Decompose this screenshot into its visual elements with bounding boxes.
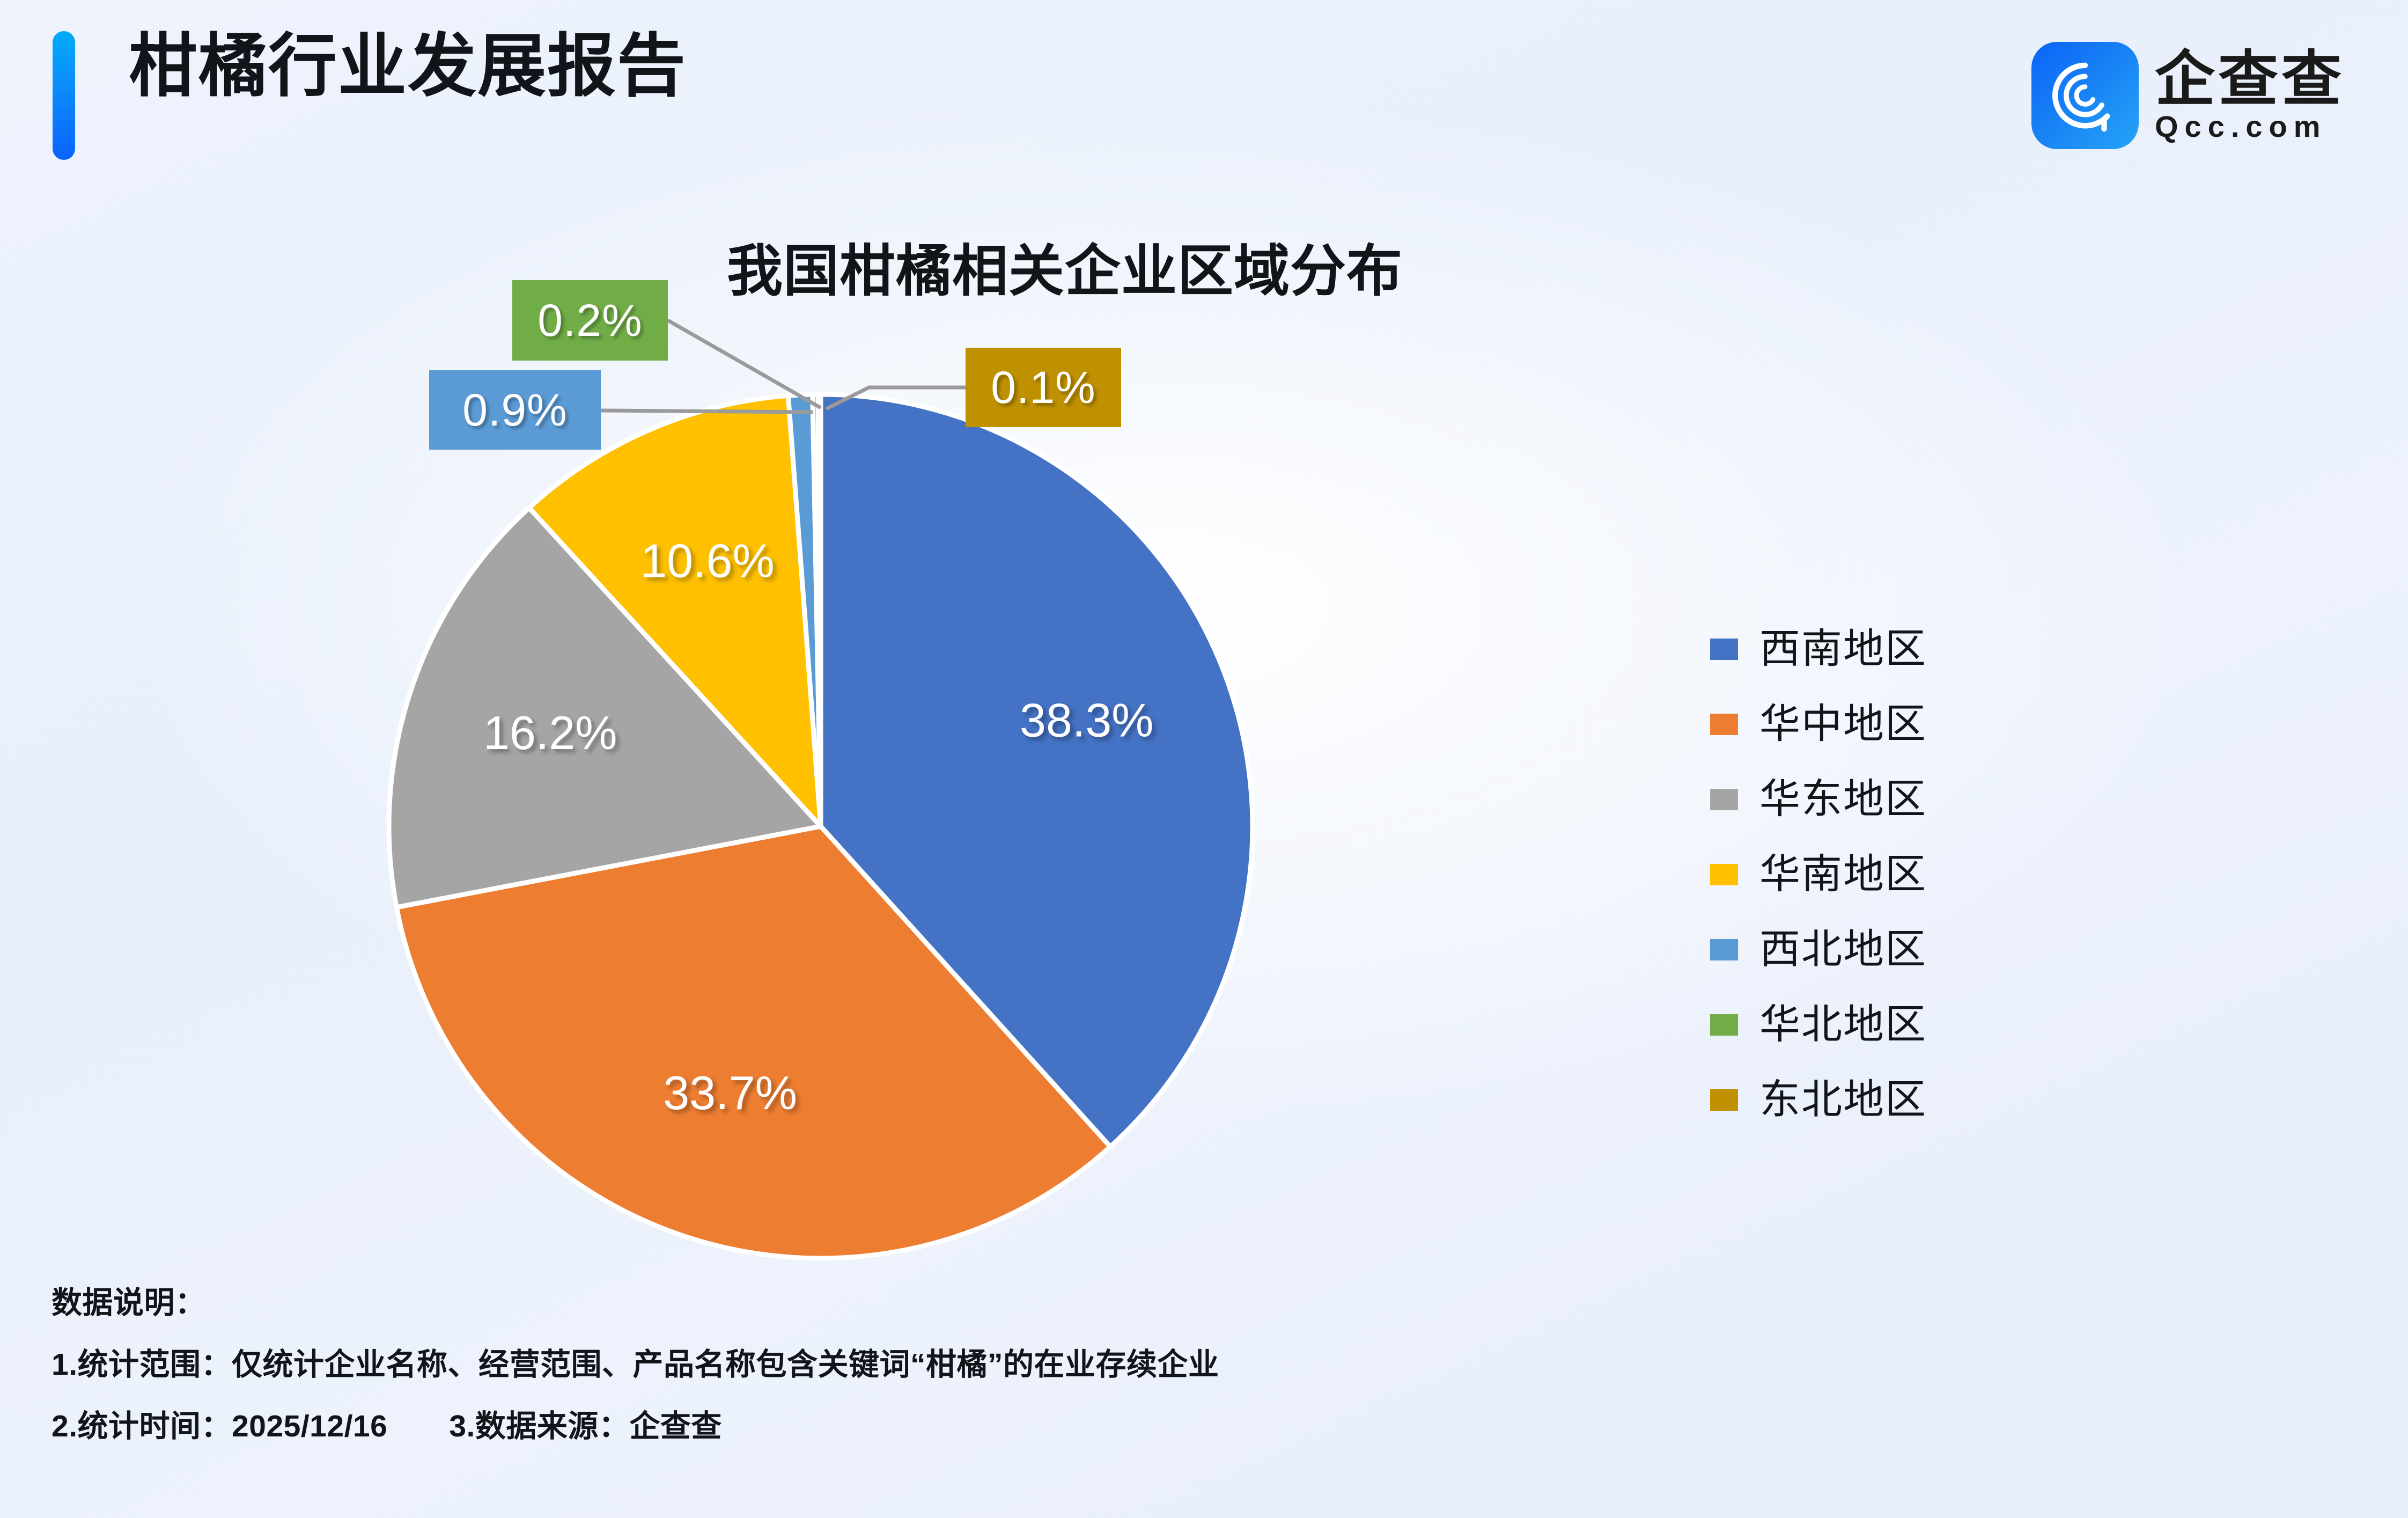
- logo-en-text: Qcc.com: [2155, 112, 2345, 142]
- logo-cn-text: 企查查: [2155, 49, 2345, 109]
- qcc-q-spiral-icon: [2031, 42, 2139, 149]
- callout-huabei: 0.2%: [512, 280, 668, 361]
- legend-item[interactable]: 东北地区: [1710, 1062, 1927, 1138]
- leader-line-huabei: [668, 320, 821, 408]
- page-title: 柑橘行业发展报告: [129, 32, 687, 101]
- legend-item[interactable]: 华北地区: [1710, 987, 1927, 1062]
- legend-swatch-icon: [1710, 1089, 1738, 1111]
- legend-item-label: 华中地区: [1759, 704, 1927, 745]
- legend-item-label: 西北地区: [1759, 929, 1927, 970]
- qcc-logo: 企查查 Qcc.com: [2031, 38, 2345, 153]
- pie-chart: 38.3%33.7%16.2%10.6%: [343, 354, 1304, 1315]
- legend-item-label: 华北地区: [1759, 1004, 1927, 1045]
- legend-swatch-icon: [1710, 789, 1738, 810]
- footer-line-time-source: 2.统计时间：2025/12/16 3.数据来源：企查查: [51, 1411, 1768, 1442]
- legend-item[interactable]: 西北地区: [1710, 912, 1927, 987]
- chart-title: 我国柑橘相关企业区域分布: [727, 225, 1403, 306]
- legend-item-label: 东北地区: [1759, 1080, 1927, 1120]
- legend-item-label: 华东地区: [1759, 779, 1927, 820]
- chart-legend: 西南地区华中地区华东地区华南地区西北地区华北地区东北地区: [1710, 612, 1927, 1138]
- legend-swatch-icon: [1710, 639, 1738, 660]
- legend-swatch-icon: [1710, 714, 1738, 735]
- footer-line-scope: 1.统计范围：仅统计企业名称、经营范围、产品名称包含关键词“柑橘”的在业存续企业: [51, 1350, 1768, 1380]
- footer-notes: 数据说明： 1.统计范围：仅统计企业名称、经营范围、产品名称包含关键词“柑橘”的…: [51, 1288, 1768, 1442]
- pie-slice-label: 33.7%: [663, 1066, 797, 1119]
- legend-item[interactable]: 华东地区: [1710, 762, 1927, 837]
- legend-item[interactable]: 华中地区: [1710, 687, 1927, 762]
- pie-chart-svg: 38.3%33.7%16.2%10.6%: [343, 354, 1304, 1315]
- pie-slice-label: 38.3%: [1020, 693, 1154, 746]
- pie-slice-label: 10.6%: [640, 534, 775, 588]
- pie-slice-label: 16.2%: [483, 706, 617, 759]
- pie-slice[interactable]: [818, 394, 821, 826]
- legend-swatch-icon: [1710, 939, 1738, 960]
- legend-item-label: 西南地区: [1759, 629, 1927, 670]
- legend-swatch-icon: [1710, 1014, 1738, 1036]
- legend-item-label: 华南地区: [1759, 854, 1927, 895]
- pie-slice-group: [389, 394, 1253, 1258]
- legend-item[interactable]: 华南地区: [1710, 837, 1927, 912]
- page-header: 柑橘行业发展报告 企查查 Qcc.com: [0, 0, 2408, 193]
- callout-xibei: 0.9%: [429, 370, 601, 450]
- leader-line-xibei: [601, 410, 813, 412]
- callout-dongbei: 0.1%: [966, 348, 1121, 427]
- legend-item[interactable]: 西南地区: [1710, 612, 1927, 687]
- logo-wordmark: 企查查 Qcc.com: [2155, 49, 2345, 142]
- legend-swatch-icon: [1710, 864, 1738, 885]
- footer-heading: 数据说明：: [51, 1288, 1768, 1318]
- title-accent-bar: [53, 31, 75, 160]
